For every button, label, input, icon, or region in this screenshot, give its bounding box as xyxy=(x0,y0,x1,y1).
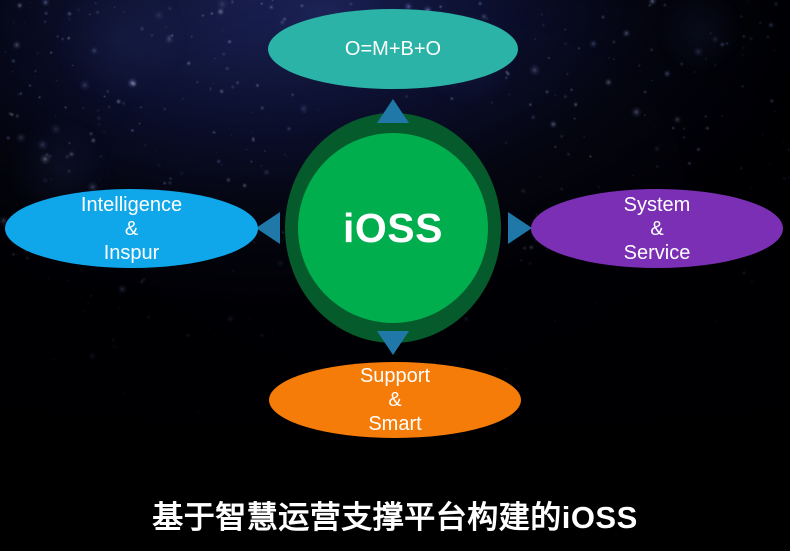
diagram-canvas: iOSS O=M+B+O Intelligence&Inspur System&… xyxy=(0,0,790,551)
node-top: O=M+B+O xyxy=(268,9,518,89)
arrow-left-icon xyxy=(256,212,280,244)
arrow-down-icon xyxy=(377,331,409,355)
node-left-label: Intelligence&Inspur xyxy=(5,193,258,265)
node-right-label: System&Service xyxy=(531,193,783,265)
hub-label: iOSS xyxy=(343,208,443,249)
page-caption: 基于智慧运营支撑平台构建的iOSS xyxy=(0,492,790,537)
node-bottom: Support&Smart xyxy=(269,362,521,438)
node-left: Intelligence&Inspur xyxy=(5,189,258,268)
hub-core-circle: iOSS xyxy=(298,133,488,323)
node-top-label: O=M+B+O xyxy=(268,37,518,61)
arrow-up-icon xyxy=(377,99,409,123)
node-bottom-label: Support&Smart xyxy=(269,364,521,436)
node-right: System&Service xyxy=(531,189,783,268)
arrow-right-icon xyxy=(508,212,532,244)
